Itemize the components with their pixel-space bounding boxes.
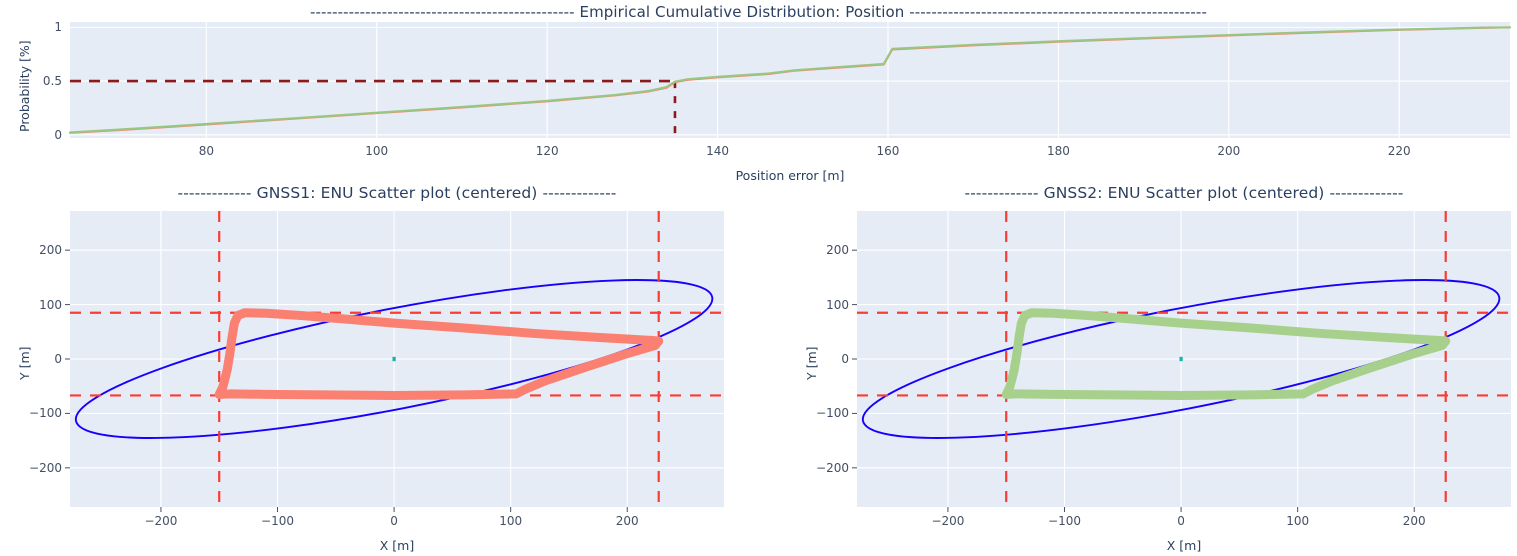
trajectory-path [1006,313,1446,396]
origin-marker [1179,357,1182,361]
gnss2-enu-scatter-ytick--100: −100 [797,406,849,420]
gnss2-enu-scatter-ytick-100: 100 [797,298,849,312]
gnss2-enu-scatter-ytick--200: −200 [797,461,849,475]
gnss2-enu-scatter-xtick--200: −200 [931,514,964,528]
gnss2-svg [0,0,1517,556]
gnss2-enu-scatter-ytick-200: 200 [797,243,849,257]
gnss2-enu-scatter-xtick--100: −100 [1048,514,1081,528]
gnss2-enu-scatter-xtick-0: 0 [1177,514,1185,528]
gnss2-xlabel: X [m] [857,538,1511,553]
gnss2-enu-scatter-ytick-0: 0 [797,352,849,366]
gnss2-enu-scatter-xtick-200: 200 [1403,514,1426,528]
gnss2-enu-scatter-xtick-100: 100 [1286,514,1309,528]
plotly-figure: ----------------------------------------… [0,0,1517,556]
